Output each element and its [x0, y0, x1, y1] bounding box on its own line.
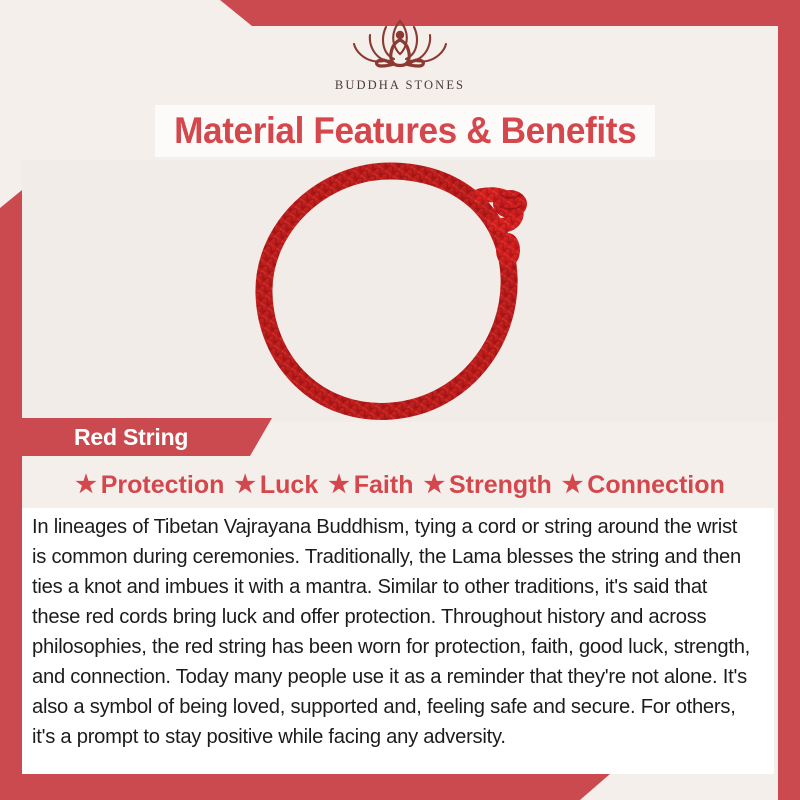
decorative-bottom-band	[0, 774, 640, 800]
product-image-area	[22, 160, 778, 422]
feature-label: Protection	[101, 471, 225, 500]
feature-label: Strength	[449, 471, 552, 500]
feature-protection: ★ Protection	[70, 471, 229, 500]
star-icon: ★	[423, 473, 445, 497]
feature-strength: ★ Strength	[418, 471, 556, 500]
feature-label: Luck	[260, 471, 318, 500]
feature-luck: ★ Luck	[229, 471, 323, 500]
feature-faith: ★ Faith	[323, 471, 418, 500]
description-panel: In lineages of Tibetan Vajrayana Buddhis…	[22, 508, 774, 774]
star-icon: ★	[75, 473, 97, 497]
section-label-banner: Red String	[22, 418, 272, 456]
star-icon: ★	[562, 473, 584, 497]
lotus-meditation-icon	[334, 14, 466, 76]
feature-label: Faith	[354, 471, 414, 500]
brand-header: BUDDHA STONES	[0, 14, 800, 102]
decorative-left-band	[0, 190, 22, 800]
description-text: In lineages of Tibetan Vajrayana Buddhis…	[32, 512, 756, 752]
feature-label: Connection	[587, 471, 725, 500]
page-title: Material Features & Benefits	[174, 110, 636, 152]
features-row: ★ Protection ★ Luck ★ Faith ★ Strength ★…	[22, 465, 778, 505]
brand-name: BUDDHA STONES	[335, 78, 465, 93]
star-icon: ★	[328, 473, 350, 497]
infographic-card: BUDDHA STONES Material Features & Benefi…	[0, 0, 800, 800]
decorative-right-band	[778, 26, 800, 800]
red-string-bracelet-image	[222, 160, 562, 422]
section-label: Red String	[74, 424, 188, 451]
star-icon: ★	[234, 473, 256, 497]
feature-connection: ★ Connection	[557, 471, 730, 500]
title-banner: Material Features & Benefits	[155, 105, 655, 157]
